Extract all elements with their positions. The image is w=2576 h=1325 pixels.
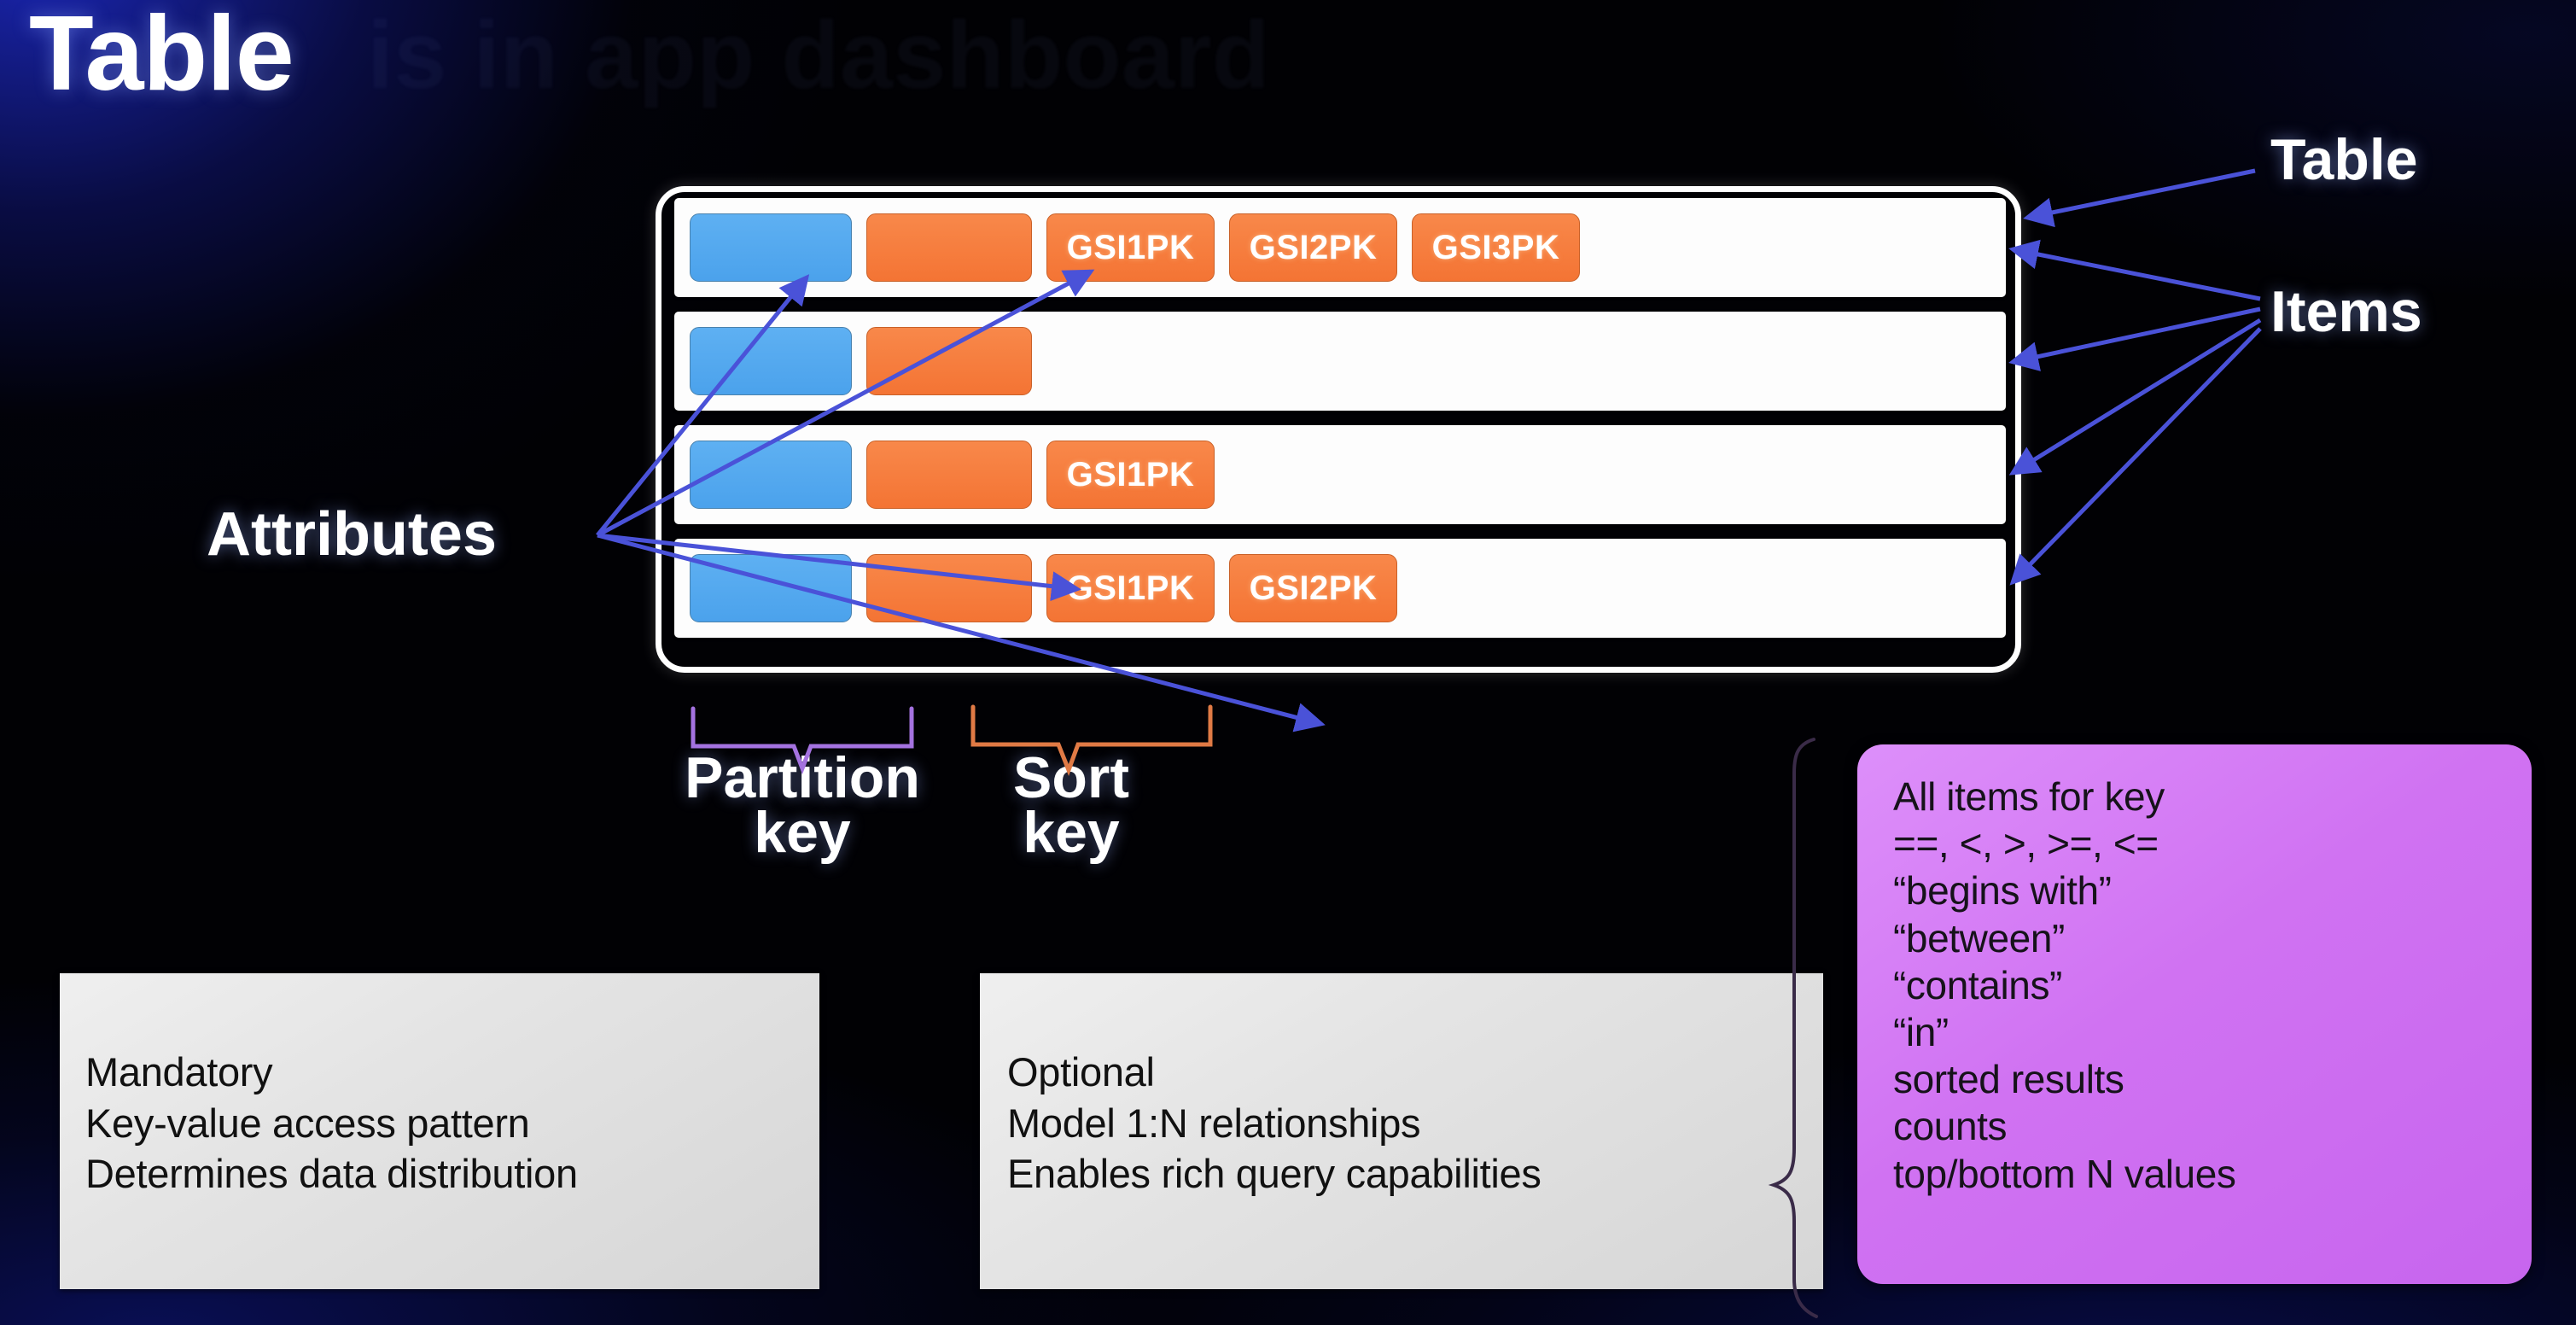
partition-key-cell[interactable] — [690, 554, 852, 622]
table-rows: GSI1PK GSI2PK GSI3PK GSI1PK GSI1PK GSI2P… — [674, 198, 2006, 638]
info-line: Optional — [1007, 1047, 1823, 1098]
callout-line: “between” — [1893, 915, 2532, 962]
info-line: Enables rich query capabilities — [1007, 1148, 1823, 1200]
callout-line: sorted results — [1893, 1056, 2532, 1103]
items-arrow-2 — [2013, 309, 2260, 362]
items-arrow-4 — [2013, 329, 2260, 582]
callout-line: “begins with” — [1893, 867, 2532, 914]
attributes-label: Attributes — [207, 499, 497, 569]
partition-key-label: Partition key — [649, 751, 956, 861]
info-line: Model 1:N relationships — [1007, 1098, 1823, 1149]
callout-line: “in” — [1893, 1009, 2532, 1056]
items-arrow-group — [2013, 249, 2260, 582]
sort-key-label-line1: Sort — [973, 751, 1169, 806]
partition-key-cell[interactable] — [690, 327, 852, 395]
table-arrow — [2027, 171, 2255, 218]
gsi-cell[interactable]: GSI2PK — [1229, 213, 1397, 282]
ghost-title-text: is in app dashboard — [367, 0, 1270, 110]
table-row[interactable]: GSI1PK — [674, 425, 2006, 524]
info-line: Determines data distribution — [85, 1148, 819, 1200]
items-arrow-3 — [2013, 320, 2260, 473]
partition-key-cell[interactable] — [690, 441, 852, 509]
items-label: Items — [2270, 278, 2422, 345]
sort-key-cell[interactable] — [866, 441, 1032, 509]
table-row[interactable]: GSI1PK GSI2PK — [674, 539, 2006, 638]
info-line: Key-value access pattern — [85, 1098, 819, 1149]
sort-key-cell[interactable] — [866, 327, 1032, 395]
callout-line: ==, <, >, >=, <= — [1893, 820, 2532, 867]
partition-key-info-box: Mandatory Key-value access pattern Deter… — [60, 973, 819, 1289]
partition-key-label-line1: Partition — [649, 751, 956, 806]
items-arrow-1 — [2013, 249, 2260, 299]
callout-line: “contains” — [1893, 962, 2532, 1009]
callout-line: top/bottom N values — [1893, 1151, 2532, 1198]
gsi-cell[interactable]: GSI1PK — [1046, 213, 1215, 282]
sort-key-label-line2: key — [973, 806, 1169, 861]
slide-canvas: is in app dashboard Table GSI1PK GSI2PK … — [0, 0, 2576, 1325]
gsi-cell[interactable]: GSI2PK — [1229, 554, 1397, 622]
partition-key-cell[interactable] — [690, 213, 852, 282]
sort-key-cell[interactable] — [866, 554, 1032, 622]
sort-key-cell[interactable] — [866, 213, 1032, 282]
table-row[interactable]: GSI1PK GSI2PK GSI3PK — [674, 198, 2006, 297]
sort-key-info-box: Optional Model 1:N relationships Enables… — [980, 973, 1823, 1289]
table-arrow-group — [2027, 171, 2255, 218]
info-line: Mandatory — [85, 1047, 819, 1098]
gsi-cell[interactable]: GSI1PK — [1046, 441, 1215, 509]
gsi-cell[interactable]: GSI3PK — [1412, 213, 1580, 282]
query-capabilities-callout: All items for key ==, <, >, >=, <= “begi… — [1857, 744, 2532, 1284]
callout-line: counts — [1893, 1103, 2532, 1150]
callout-line: All items for key — [1893, 773, 2532, 820]
table-label: Table — [2270, 126, 2418, 193]
page-title: Table — [29, 0, 294, 114]
partition-key-label-line2: key — [649, 806, 956, 861]
sort-key-label: Sort key — [973, 751, 1169, 861]
table-row[interactable] — [674, 312, 2006, 411]
gsi-cell[interactable]: GSI1PK — [1046, 554, 1215, 622]
